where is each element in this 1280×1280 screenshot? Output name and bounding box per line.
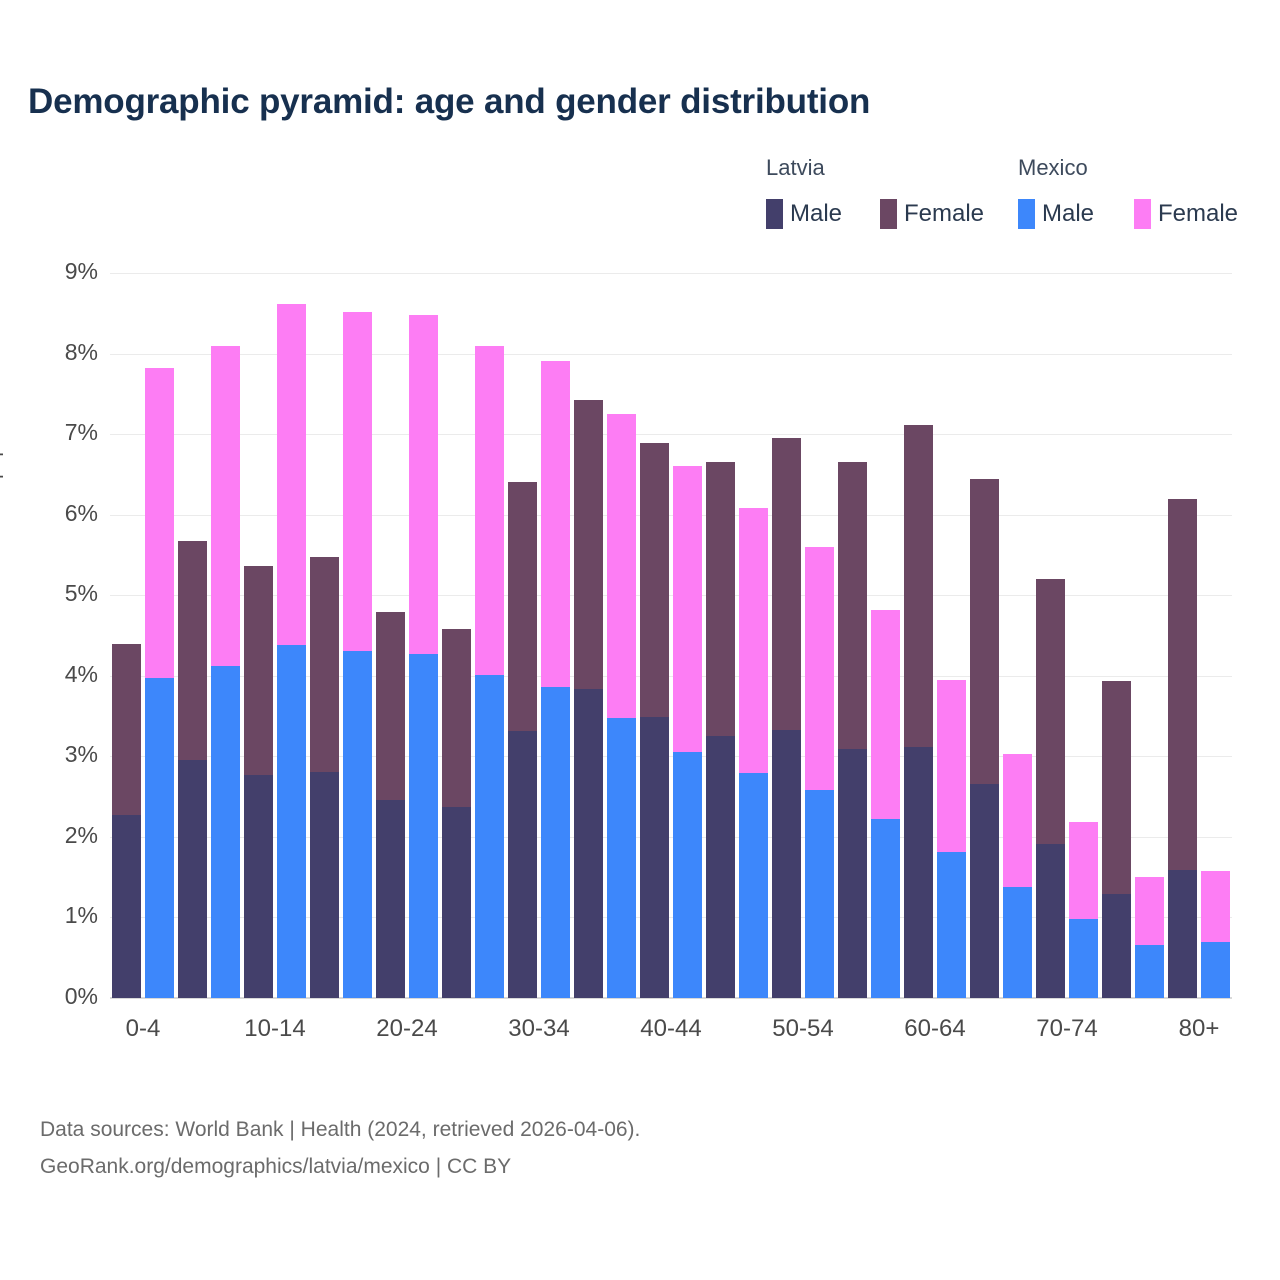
bar-group-75-79 [1102, 273, 1164, 998]
legend-label-mexico-female: Female [1158, 202, 1238, 226]
segment-latvia-male-35-39[interactable] [574, 689, 603, 998]
segment-mexico-male-50-54[interactable] [805, 790, 834, 998]
bar-latvia-70-74[interactable] [1036, 579, 1065, 998]
segment-mexico-female-25-29[interactable] [475, 346, 504, 675]
chart-title: Demographic pyramid: age and gender dist… [28, 82, 870, 122]
segment-latvia-male-60-64[interactable] [904, 747, 933, 998]
segment-mexico-female-0-4[interactable] [145, 368, 174, 678]
x-axis-tick-10-14: 10-14 [242, 1015, 308, 1043]
legend-group-titles: Latvia Mexico [760, 155, 1250, 185]
bar-mexico-70-74[interactable] [1069, 822, 1098, 998]
y-axis-tick-2%: 2% [12, 824, 98, 847]
segment-latvia-male-20-24[interactable] [376, 800, 405, 998]
bar-group-40-44 [640, 273, 702, 998]
segment-latvia-male-70-74[interactable] [1036, 844, 1065, 998]
segment-mexico-male-65-69[interactable] [1003, 887, 1032, 998]
segment-mexico-male-80+[interactable] [1201, 942, 1230, 998]
segment-latvia-female-10-14[interactable] [244, 566, 273, 775]
segment-latvia-male-75-79[interactable] [1102, 894, 1131, 998]
segment-latvia-female-75-79[interactable] [1102, 681, 1131, 894]
x-axis-tick-80+: 80+ [1166, 1015, 1232, 1043]
bar-mexico-65-69[interactable] [1003, 754, 1032, 998]
y-axis-title: Share of population [0, 387, 5, 560]
bar-mexico-50-54[interactable] [805, 547, 834, 998]
segment-latvia-male-30-34[interactable] [508, 731, 537, 998]
bar-group-70-74 [1036, 273, 1098, 998]
segment-mexico-male-55-59[interactable] [871, 819, 900, 998]
bar-latvia-60-64[interactable] [904, 425, 933, 998]
segment-mexico-female-35-39[interactable] [607, 414, 636, 718]
segment-latvia-female-0-4[interactable] [112, 644, 141, 815]
bar-group-20-24 [376, 273, 438, 998]
bar-group-35-39 [574, 273, 636, 998]
bar-latvia-15-19[interactable] [310, 557, 339, 998]
bar-mexico-45-49[interactable] [739, 508, 768, 998]
bar-group-80+ [1168, 273, 1230, 998]
segment-latvia-male-80+[interactable] [1168, 870, 1197, 998]
segment-latvia-male-25-29[interactable] [442, 807, 471, 998]
bar-group-15-19 [310, 273, 372, 998]
segment-latvia-male-50-54[interactable] [772, 730, 801, 998]
legend-label-latvia-female: Female [904, 202, 984, 226]
segment-latvia-female-50-54[interactable] [772, 438, 801, 730]
segment-mexico-male-70-74[interactable] [1069, 919, 1098, 998]
segment-mexico-male-10-14[interactable] [277, 645, 306, 998]
chart-footer: Data sources: World Bank | Health (2024,… [40, 1112, 640, 1186]
legend-item-latvia-male[interactable]: Male [766, 199, 842, 229]
segment-mexico-female-70-74[interactable] [1069, 822, 1098, 919]
legend-item-mexico-female[interactable]: Female [1134, 199, 1238, 229]
plot-area: 0%1%2%3%4%5%6%7%8%9%0-410-1420-2430-3440… [110, 273, 1232, 998]
segment-mexico-female-45-49[interactable] [739, 508, 768, 773]
bar-mexico-60-64[interactable] [937, 680, 966, 998]
segment-latvia-female-15-19[interactable] [310, 557, 339, 772]
segment-latvia-male-5-9[interactable] [178, 760, 207, 998]
y-axis-tick-4%: 4% [12, 663, 98, 686]
segment-mexico-female-40-44[interactable] [673, 466, 702, 752]
segment-mexico-female-5-9[interactable] [211, 346, 240, 667]
legend-label-mexico-male: Male [1042, 202, 1094, 226]
legend-items: Male Female Male Female [760, 199, 1250, 231]
y-axis-tick-0%: 0% [12, 985, 98, 1008]
x-axis-tick-20-24: 20-24 [374, 1015, 440, 1043]
chart-legend: Latvia Mexico Male Female Male Female [760, 155, 1250, 235]
bar-group-0-4 [112, 273, 174, 998]
legend-item-mexico-male[interactable]: Male [1018, 199, 1094, 229]
legend-swatch-mexico-female [1134, 199, 1151, 229]
segment-mexico-female-15-19[interactable] [343, 312, 372, 651]
segment-latvia-male-0-4[interactable] [112, 815, 141, 998]
bar-latvia-20-24[interactable] [376, 612, 405, 998]
x-axis-tick-70-74: 70-74 [1034, 1015, 1100, 1043]
segment-latvia-female-40-44[interactable] [640, 443, 669, 717]
bar-group-60-64 [904, 273, 966, 998]
x-axis-tick-0-4: 0-4 [110, 1015, 176, 1043]
bar-latvia-80+[interactable] [1168, 499, 1197, 998]
segment-mexico-male-60-64[interactable] [937, 852, 966, 998]
bar-mexico-10-14[interactable] [277, 304, 306, 998]
bar-mexico-20-24[interactable] [409, 315, 438, 998]
segment-latvia-female-25-29[interactable] [442, 629, 471, 807]
x-axis-tick-50-54: 50-54 [770, 1015, 836, 1043]
bar-latvia-35-39[interactable] [574, 400, 603, 998]
segment-mexico-female-65-69[interactable] [1003, 754, 1032, 887]
segment-latvia-female-20-24[interactable] [376, 612, 405, 800]
y-axis-tick-1%: 1% [12, 904, 98, 927]
bar-mexico-80+[interactable] [1201, 871, 1230, 998]
segment-mexico-male-35-39[interactable] [607, 718, 636, 998]
legend-group-latvia: Latvia [766, 155, 825, 181]
bar-mexico-5-9[interactable] [211, 346, 240, 999]
segment-latvia-female-45-49[interactable] [706, 462, 735, 736]
chart-container: Demographic pyramid: age and gender dist… [0, 0, 1280, 1280]
segment-latvia-female-35-39[interactable] [574, 400, 603, 689]
bar-mexico-25-29[interactable] [475, 346, 504, 999]
segment-latvia-male-45-49[interactable] [706, 736, 735, 998]
footer-data-sources: Data sources: World Bank | Health (2024,… [40, 1112, 640, 1149]
bar-latvia-50-54[interactable] [772, 438, 801, 998]
bar-mexico-0-4[interactable] [145, 368, 174, 998]
bar-group-55-59 [838, 273, 900, 998]
segment-latvia-female-80+[interactable] [1168, 499, 1197, 870]
segment-mexico-male-45-49[interactable] [739, 773, 768, 998]
segment-latvia-female-30-34[interactable] [508, 482, 537, 731]
bar-group-65-69 [970, 273, 1032, 998]
segment-mexico-male-30-34[interactable] [541, 687, 570, 998]
bar-mexico-30-34[interactable] [541, 361, 570, 998]
legend-swatch-latvia-female [880, 199, 897, 229]
segment-mexico-female-30-34[interactable] [541, 361, 570, 687]
segment-latvia-female-70-74[interactable] [1036, 579, 1065, 844]
bar-latvia-45-49[interactable] [706, 462, 735, 998]
bar-group-30-34 [508, 273, 570, 998]
bar-latvia-40-44[interactable] [640, 443, 669, 998]
y-axis-tick-5%: 5% [12, 582, 98, 605]
segment-latvia-male-15-19[interactable] [310, 772, 339, 998]
segment-mexico-male-0-4[interactable] [145, 678, 174, 998]
y-axis-tick-3%: 3% [12, 743, 98, 766]
segment-mexico-male-25-29[interactable] [475, 675, 504, 998]
x-axis-tick-60-64: 60-64 [902, 1015, 968, 1043]
bar-latvia-30-34[interactable] [508, 482, 537, 998]
segment-mexico-female-50-54[interactable] [805, 547, 834, 790]
legend-label-latvia-male: Male [790, 202, 842, 226]
segment-latvia-male-10-14[interactable] [244, 775, 273, 998]
segment-latvia-female-55-59[interactable] [838, 462, 867, 750]
bar-latvia-25-29[interactable] [442, 629, 471, 998]
segment-latvia-male-55-59[interactable] [838, 749, 867, 998]
y-axis-tick-8%: 8% [12, 341, 98, 364]
legend-swatch-mexico-male [1018, 199, 1035, 229]
legend-swatch-latvia-male [766, 199, 783, 229]
segment-mexico-male-75-79[interactable] [1135, 945, 1164, 998]
bar-group-50-54 [772, 273, 834, 998]
bar-latvia-75-79[interactable] [1102, 681, 1131, 998]
bar-mexico-75-79[interactable] [1135, 877, 1164, 998]
segment-latvia-female-60-64[interactable] [904, 425, 933, 746]
bar-group-5-9 [178, 273, 240, 998]
segment-mexico-male-5-9[interactable] [211, 666, 240, 998]
segment-mexico-female-80+[interactable] [1201, 871, 1230, 942]
legend-item-latvia-female[interactable]: Female [880, 199, 984, 229]
bar-latvia-55-59[interactable] [838, 462, 867, 999]
y-axis-tick-7%: 7% [12, 421, 98, 444]
bar-group-25-29 [442, 273, 504, 998]
bar-mexico-35-39[interactable] [607, 414, 636, 998]
y-axis-tick-9%: 9% [12, 260, 98, 283]
segment-mexico-female-55-59[interactable] [871, 610, 900, 819]
segment-mexico-female-10-14[interactable] [277, 304, 306, 646]
segment-mexico-male-40-44[interactable] [673, 752, 702, 999]
segment-latvia-female-5-9[interactable] [178, 541, 207, 760]
bar-group-45-49 [706, 273, 768, 998]
segment-mexico-female-60-64[interactable] [937, 680, 966, 852]
bar-latvia-0-4[interactable] [112, 644, 141, 998]
bar-mexico-55-59[interactable] [871, 610, 900, 998]
segment-latvia-male-65-69[interactable] [970, 784, 999, 998]
segment-mexico-female-20-24[interactable] [409, 315, 438, 654]
bar-mexico-15-19[interactable] [343, 312, 372, 998]
segment-latvia-male-40-44[interactable] [640, 717, 669, 998]
bar-mexico-40-44[interactable] [673, 466, 702, 998]
legend-group-mexico: Mexico [1018, 155, 1088, 181]
segment-mexico-male-15-19[interactable] [343, 651, 372, 998]
x-axis-tick-40-44: 40-44 [638, 1015, 704, 1043]
bar-group-10-14 [244, 273, 306, 998]
x-axis-tick-30-34: 30-34 [506, 1015, 572, 1043]
bar-latvia-10-14[interactable] [244, 566, 273, 998]
segment-mexico-male-20-24[interactable] [409, 654, 438, 998]
footer-attribution: GeoRank.org/demographics/latvia/mexico |… [40, 1149, 640, 1186]
segment-latvia-female-65-69[interactable] [970, 479, 999, 784]
y-axis-tick-6%: 6% [12, 502, 98, 525]
segment-mexico-female-75-79[interactable] [1135, 877, 1164, 945]
bar-latvia-5-9[interactable] [178, 541, 207, 998]
bar-latvia-65-69[interactable] [970, 479, 999, 998]
